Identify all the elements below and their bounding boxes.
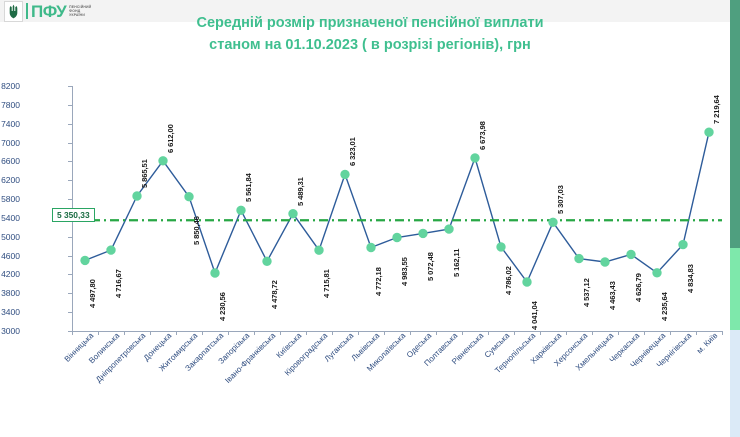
series-marker — [445, 225, 453, 233]
data-point-label: 6 612,00 — [166, 124, 175, 153]
y-axis-tick-label: 6200 — [0, 175, 20, 185]
chart-plot-area: 8200780074007000660062005800540050004600… — [22, 86, 722, 331]
y-axis-tick-label: 5000 — [0, 232, 20, 242]
data-point-label: 5 072,48 — [426, 253, 435, 282]
logo-subtitle-line-3: УКРАЇНИ — [69, 13, 91, 17]
x-axis-category-label: Івано-Франківська — [223, 331, 277, 385]
data-point-label: 5 561,84 — [244, 174, 253, 203]
y-axis-tick-label: 7000 — [0, 138, 20, 148]
data-point-label: 5 850,46 — [192, 216, 201, 245]
y-axis-tick-label: 4200 — [0, 269, 20, 279]
data-point-label: 5 865,51 — [140, 159, 149, 188]
y-axis-tick-label: 3800 — [0, 288, 20, 298]
data-point-label: 4 983,55 — [400, 257, 409, 286]
ukraine-trident-emblem-icon — [4, 1, 23, 22]
series-marker — [263, 257, 271, 265]
y-axis-tick-label: 3400 — [0, 307, 20, 317]
data-point-label: 4 715,81 — [322, 269, 331, 298]
logo-wordmark: ПФУ — [31, 3, 66, 20]
y-axis-tick-label: 7400 — [0, 119, 20, 129]
series-marker — [133, 192, 141, 200]
data-point-label: 4 537,12 — [582, 278, 591, 307]
series-marker — [237, 206, 245, 214]
series-marker — [341, 170, 349, 178]
data-point-label: 4 497,80 — [88, 280, 97, 309]
data-point-label: 4 626,79 — [634, 274, 643, 303]
series-marker — [601, 258, 609, 266]
series-marker — [107, 246, 115, 254]
y-axis-tick-label: 7800 — [0, 100, 20, 110]
y-axis-tick-label: 5800 — [0, 194, 20, 204]
series-marker — [523, 278, 531, 286]
series-marker — [81, 256, 89, 264]
data-point-label: 4 041,04 — [530, 301, 539, 330]
series-marker — [705, 128, 713, 136]
x-axis-category-label: Дніпропетровська — [94, 331, 147, 384]
series-marker — [367, 243, 375, 251]
chart-title-line-2: станом на 01.10.2023 ( в розрізі регіоні… — [120, 34, 620, 56]
y-axis-tick-label: 3000 — [0, 326, 20, 336]
data-point-label: 5 489,31 — [296, 177, 305, 206]
data-point-label: 4 478,72 — [270, 281, 279, 310]
series-marker — [419, 229, 427, 237]
data-point-label: 7 219,64 — [712, 95, 721, 124]
series-marker — [211, 269, 219, 277]
pfu-logo: ПФУ ПЕНСІЙНИЙ ФОНД УКРАЇНИ — [4, 1, 91, 21]
data-point-label: 6 323,01 — [348, 138, 357, 167]
data-point-label: 5 162,11 — [452, 249, 461, 277]
chart-title-line-1: Середній розмір призначеної пенсійної ви… — [120, 12, 620, 34]
x-axis-category-label: м. Київ — [695, 331, 719, 355]
logo-divider — [26, 3, 28, 19]
series-polyline — [85, 132, 709, 282]
chart-title: Середній розмір призначеної пенсійної ви… — [120, 12, 620, 56]
data-point-label: 4 230,56 — [218, 292, 227, 321]
data-point-label: 5 307,03 — [556, 186, 565, 215]
logo-subtitle: ПЕНСІЙНИЙ ФОНД УКРАЇНИ — [69, 5, 91, 17]
series-marker — [679, 240, 687, 248]
series-marker — [471, 154, 479, 162]
side-bar-segment-1 — [730, 0, 740, 248]
decorative-side-bar — [730, 0, 740, 437]
series-marker — [653, 269, 661, 277]
data-point-label: 4 235,64 — [660, 292, 669, 321]
series-markers — [81, 128, 713, 286]
series-marker — [497, 243, 505, 251]
average-value-callout: 5 350,33 — [52, 208, 95, 222]
y-axis-tick-label: 4600 — [0, 251, 20, 261]
data-point-label: 4 772,18 — [374, 267, 383, 296]
series-marker — [315, 246, 323, 254]
data-point-label: 4 716,67 — [114, 269, 123, 298]
series-marker — [549, 218, 557, 226]
series-marker — [185, 193, 193, 201]
data-point-label: 4 834,83 — [686, 264, 695, 293]
data-point-label: 6 673,98 — [478, 121, 487, 150]
series-marker — [627, 250, 635, 258]
y-axis-tick-label: 6600 — [0, 156, 20, 166]
side-bar-segment-2 — [730, 248, 740, 330]
data-point-label: 4 786,02 — [504, 266, 513, 295]
side-bar-segment-3 — [730, 330, 740, 437]
y-axis-tick-label: 8200 — [0, 81, 20, 91]
x-axis-category-labels: ВінницькаВолинськаДніпропетровськаДонець… — [22, 331, 722, 437]
data-point-label: 4 463,43 — [608, 281, 617, 310]
series-marker — [159, 157, 167, 165]
y-axis-tick-label: 5400 — [0, 213, 20, 223]
series-marker — [575, 254, 583, 262]
series-marker — [289, 210, 297, 218]
series-marker — [393, 233, 401, 241]
x-axis-tick-mark — [722, 331, 723, 335]
series-line-chart — [22, 86, 722, 331]
